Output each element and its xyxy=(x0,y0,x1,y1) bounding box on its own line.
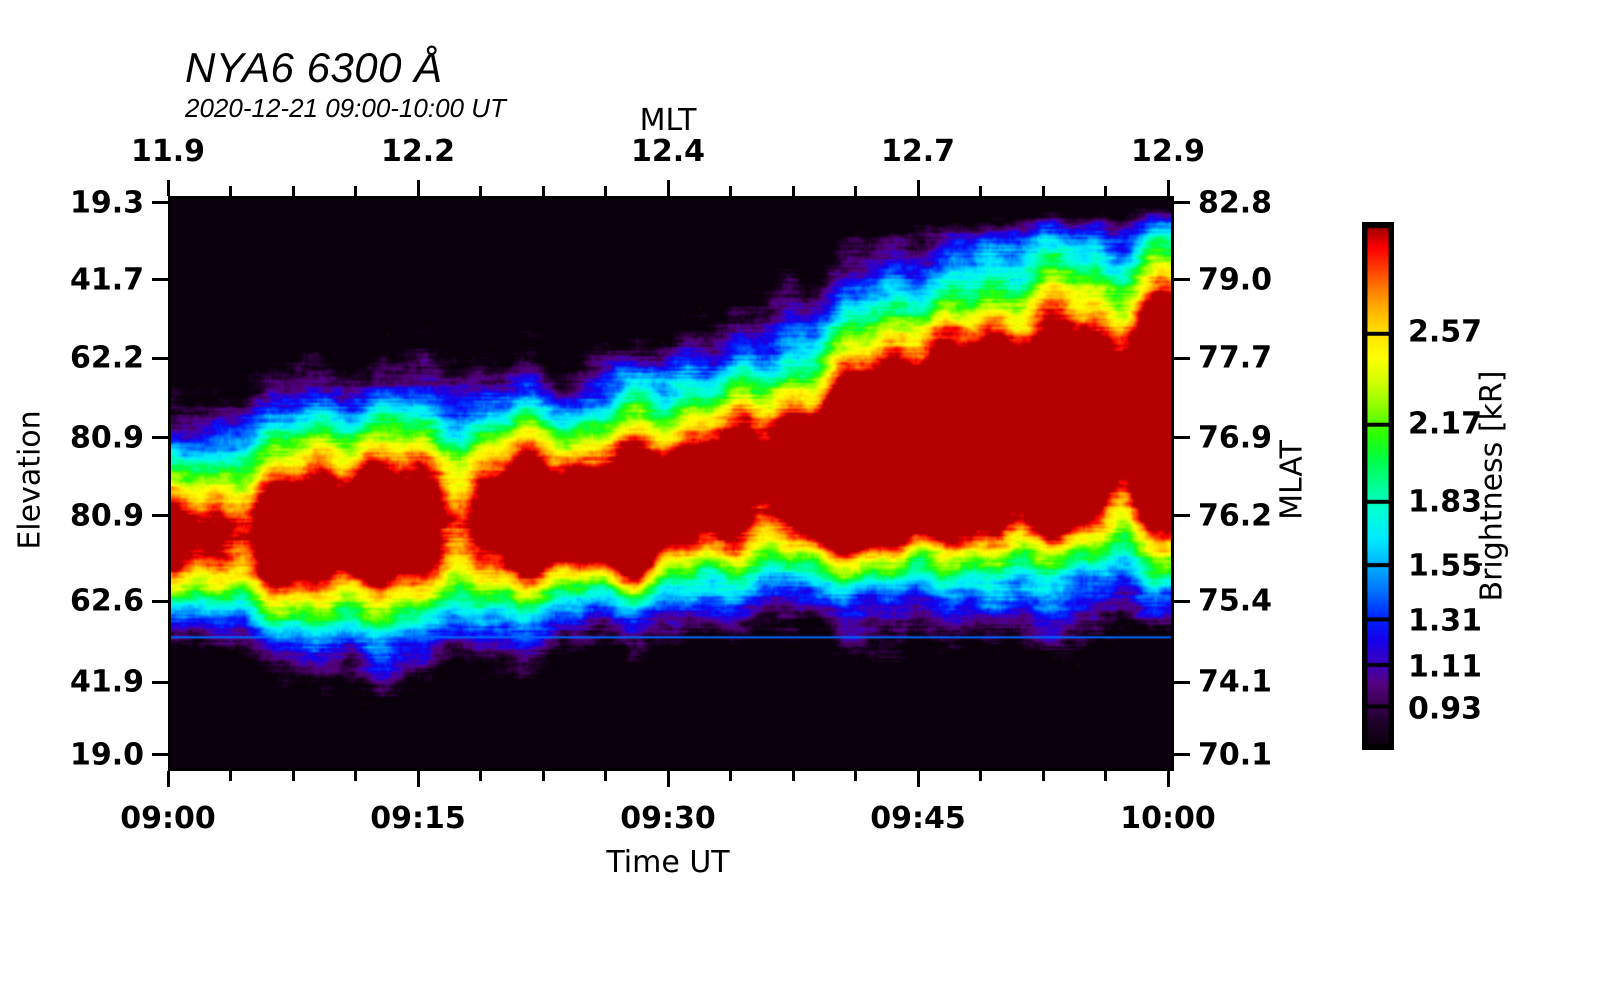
top-minor-tick xyxy=(979,186,982,196)
bottom-axis-label: Time UT xyxy=(606,845,729,880)
colorbar-tick-label: 0.93 xyxy=(1408,691,1482,726)
top-major-tick xyxy=(667,180,670,196)
colorbar xyxy=(1362,222,1394,750)
left-major-tick xyxy=(152,357,168,360)
top-minor-tick xyxy=(479,186,482,196)
keogram-image xyxy=(171,199,1171,768)
top-tick-label: 12.2 xyxy=(381,134,455,169)
bottom-minor-tick xyxy=(292,771,295,781)
top-minor-tick xyxy=(292,186,295,196)
bottom-minor-tick xyxy=(729,771,732,781)
right-tick-label: 74.1 xyxy=(1198,665,1272,700)
plot-title: NYA6 6300 Å xyxy=(185,44,443,92)
top-major-tick xyxy=(917,180,920,196)
bottom-major-tick xyxy=(917,771,920,787)
colorbar-tick-label: 2.57 xyxy=(1408,315,1482,350)
top-tick-label: 12.4 xyxy=(631,134,705,169)
left-major-tick xyxy=(152,681,168,684)
right-tick-label: 82.8 xyxy=(1198,185,1272,220)
right-tick-label: 70.1 xyxy=(1198,737,1272,772)
left-major-tick xyxy=(152,600,168,603)
top-minor-tick xyxy=(542,186,545,196)
left-tick-label: 41.7 xyxy=(70,262,144,297)
right-axis-label: MLAT xyxy=(1275,440,1310,520)
bottom-minor-tick xyxy=(604,771,607,781)
keogram-plot-area xyxy=(168,196,1174,771)
bottom-minor-tick xyxy=(1104,771,1107,781)
left-tick-label: 80.9 xyxy=(70,498,144,533)
bottom-tick-label: 09:30 xyxy=(620,801,716,836)
top-axis-label: MLT xyxy=(640,103,697,138)
top-minor-tick xyxy=(854,186,857,196)
right-tick-label: 75.4 xyxy=(1198,584,1272,619)
top-major-tick xyxy=(417,180,420,196)
bottom-major-tick xyxy=(1167,771,1170,787)
top-minor-tick xyxy=(1042,186,1045,196)
colorbar-tick-label: 2.17 xyxy=(1408,407,1482,442)
left-tick-label: 41.9 xyxy=(70,665,144,700)
left-axis-label: Elevation xyxy=(13,410,48,549)
keogram-figure: NYA6 6300 Å 2020-12-21 09:00-10:00 UT ML… xyxy=(0,0,1600,1000)
top-minor-tick xyxy=(229,186,232,196)
top-minor-tick xyxy=(729,186,732,196)
top-tick-label: 11.9 xyxy=(131,134,205,169)
left-major-tick xyxy=(152,278,168,281)
left-major-tick xyxy=(152,753,168,756)
top-minor-tick xyxy=(604,186,607,196)
right-major-tick xyxy=(1174,681,1190,684)
top-minor-tick xyxy=(1104,186,1107,196)
left-major-tick xyxy=(152,436,168,439)
right-major-tick xyxy=(1174,514,1190,517)
bottom-tick-label: 10:00 xyxy=(1120,801,1216,836)
colorbar-tick-label: 1.11 xyxy=(1408,650,1482,685)
top-major-tick xyxy=(1167,180,1170,196)
right-major-tick xyxy=(1174,753,1190,756)
right-tick-label: 77.7 xyxy=(1198,341,1272,376)
left-tick-label: 19.0 xyxy=(70,737,144,772)
colorbar-tick-label: 1.55 xyxy=(1408,549,1482,584)
bottom-minor-tick xyxy=(542,771,545,781)
bottom-minor-tick xyxy=(229,771,232,781)
right-tick-label: 76.9 xyxy=(1198,420,1272,455)
bottom-tick-label: 09:15 xyxy=(370,801,466,836)
bottom-tick-label: 09:45 xyxy=(870,801,966,836)
plot-subtitle: 2020-12-21 09:00-10:00 UT xyxy=(185,93,506,124)
left-tick-label: 62.6 xyxy=(70,584,144,619)
top-major-tick xyxy=(167,180,170,196)
bottom-minor-tick xyxy=(979,771,982,781)
top-minor-tick xyxy=(354,186,357,196)
top-tick-label: 12.7 xyxy=(881,134,955,169)
colorbar-gradient xyxy=(1362,222,1394,750)
right-major-tick xyxy=(1174,436,1190,439)
left-major-tick xyxy=(152,514,168,517)
top-tick-label: 12.9 xyxy=(1131,134,1205,169)
left-tick-label: 62.2 xyxy=(70,341,144,376)
right-major-tick xyxy=(1174,357,1190,360)
right-tick-label: 79.0 xyxy=(1198,262,1272,297)
bottom-minor-tick xyxy=(1042,771,1045,781)
bottom-minor-tick xyxy=(354,771,357,781)
right-major-tick xyxy=(1174,201,1190,204)
colorbar-axis-label: Brightness [kR] xyxy=(1475,371,1510,602)
bottom-major-tick xyxy=(417,771,420,787)
bottom-major-tick xyxy=(167,771,170,787)
left-tick-label: 19.3 xyxy=(70,185,144,220)
colorbar-tick-label: 1.83 xyxy=(1408,485,1482,520)
bottom-major-tick xyxy=(667,771,670,787)
colorbar-tick-label: 1.31 xyxy=(1408,604,1482,639)
top-minor-tick xyxy=(792,186,795,196)
bottom-minor-tick xyxy=(479,771,482,781)
right-tick-label: 76.2 xyxy=(1198,498,1272,533)
right-major-tick xyxy=(1174,600,1190,603)
bottom-minor-tick xyxy=(854,771,857,781)
bottom-minor-tick xyxy=(792,771,795,781)
right-major-tick xyxy=(1174,278,1190,281)
left-major-tick xyxy=(152,201,168,204)
left-tick-label: 80.9 xyxy=(70,420,144,455)
bottom-tick-label: 09:00 xyxy=(120,801,216,836)
